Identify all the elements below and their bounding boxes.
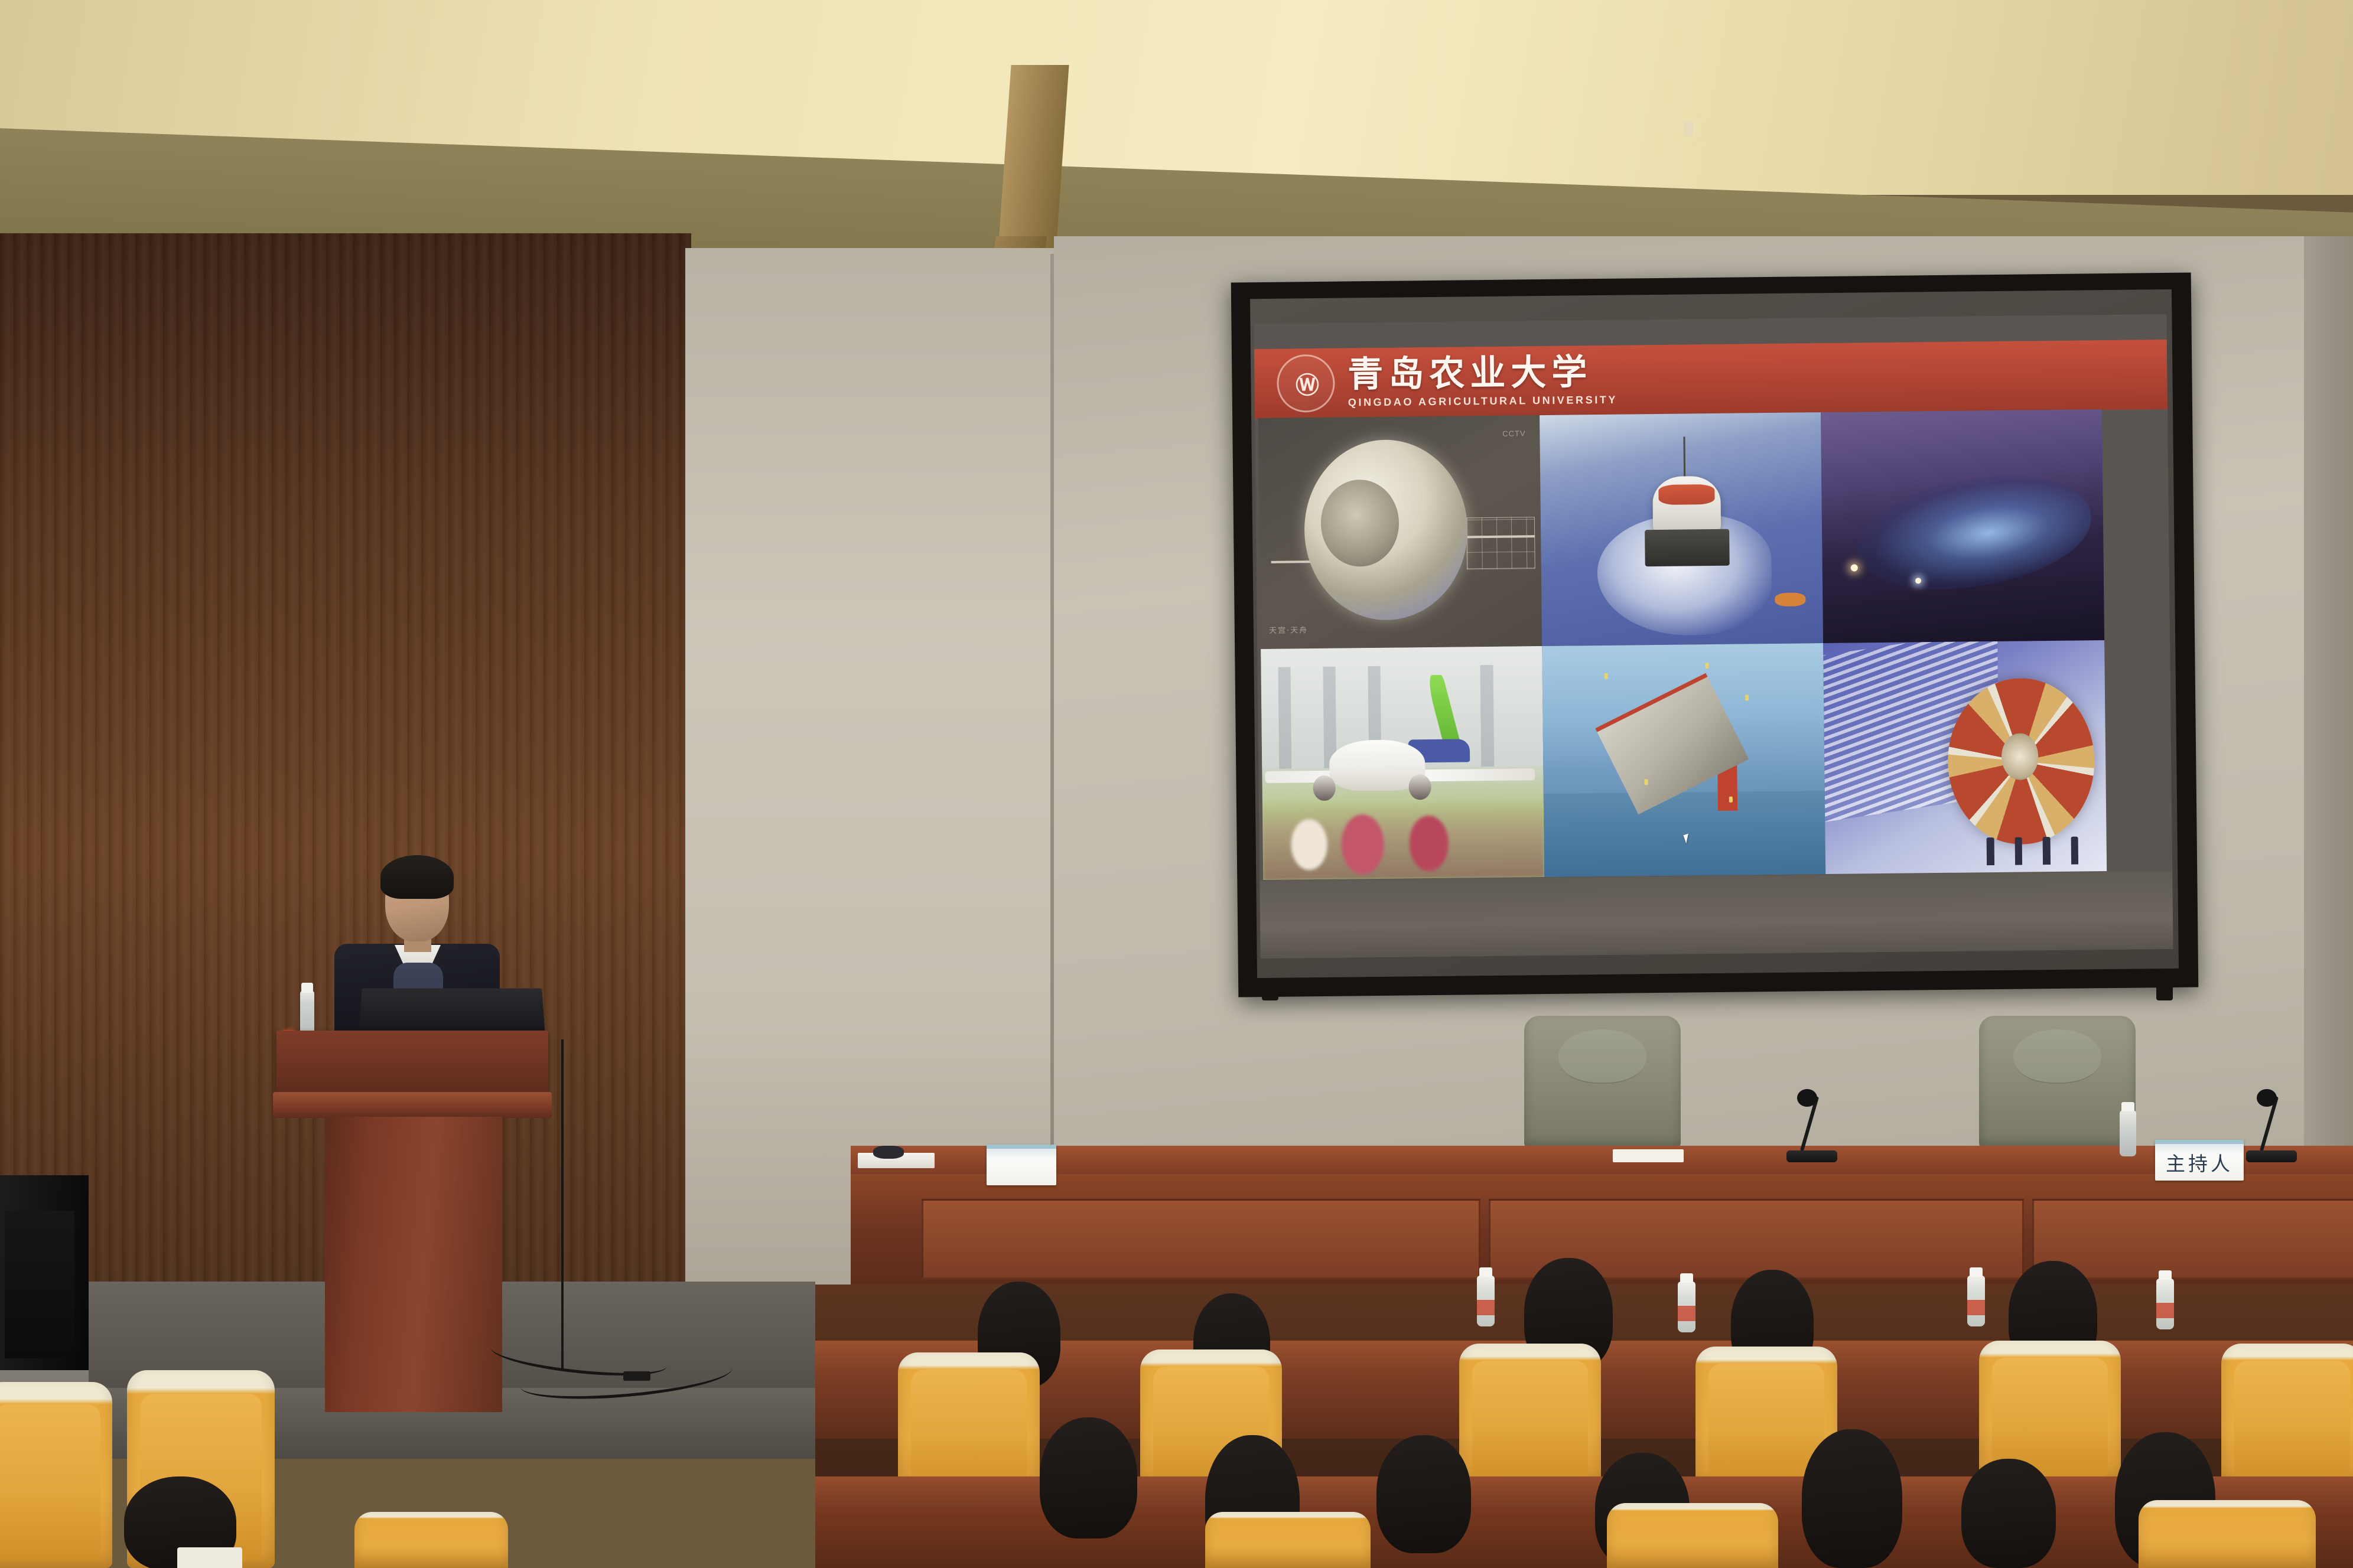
- plasma-glow-shape: [1849, 463, 2098, 604]
- audience-water-bottle: [2156, 1279, 2174, 1329]
- microphone-capsule-left: [1797, 1089, 1817, 1107]
- audience-cup: [177, 1547, 242, 1568]
- microphone-base-right[interactable]: [2246, 1150, 2297, 1162]
- cutterhead-hub-icon: [2001, 734, 2039, 780]
- light-point-b: [1915, 578, 1921, 583]
- aircraft-engine-right-icon: [1408, 774, 1431, 800]
- head-table-panel: [922, 1199, 1480, 1279]
- audience-seat[interactable]: [2221, 1344, 2353, 1485]
- audience-seat-foreground[interactable]: [0, 1382, 112, 1568]
- head-table-object: [873, 1146, 904, 1159]
- confetti: [1729, 797, 1733, 803]
- audience-head: [1802, 1429, 1902, 1568]
- audience-seat[interactable]: [1459, 1344, 1601, 1485]
- podium-top-desk: [276, 1031, 548, 1096]
- podium-cable: [561, 1039, 579, 1370]
- audience-water-bottle: [1967, 1276, 1985, 1326]
- audience-bottle-cap: [2159, 1270, 2172, 1280]
- audience-bottle-cap: [1970, 1267, 1983, 1277]
- photo-plasma-glow: [1821, 409, 2104, 643]
- microphone-capsule-right: [2257, 1089, 2277, 1107]
- microphone-base-left[interactable]: [1786, 1150, 1837, 1162]
- ceiling-light-icon: [1684, 121, 1693, 136]
- slide-header-banner: Ⓦ 青岛农业大学 QINGDAO AGRICULTURAL UNIVERSITY: [1254, 340, 2168, 419]
- audience-seat[interactable]: [898, 1352, 1040, 1494]
- seat-cushion: [2234, 1361, 2351, 1480]
- worker-silhouette: [2071, 837, 2079, 865]
- bottle-label: [1967, 1300, 1985, 1315]
- worker-silhouette: [1987, 837, 1994, 865]
- crowd-blob: [1409, 816, 1449, 872]
- audience-bottle-cap: [1680, 1273, 1693, 1283]
- photo-sea-recovery: [1540, 412, 1823, 646]
- capsule-base-icon: [1645, 529, 1729, 566]
- presenter-hair: [380, 855, 454, 899]
- seat-cushion: [911, 1370, 1027, 1489]
- seat-cushion: [0, 1404, 100, 1561]
- audience-seat-foreground[interactable]: [2139, 1500, 2316, 1568]
- worker-silhouette: [2043, 837, 2051, 865]
- name-placard-left: [987, 1145, 1056, 1185]
- slide-title-english: QINGDAO AGRICULTURAL UNIVERSITY: [1348, 394, 1618, 409]
- head-table-panel: [2032, 1199, 2353, 1279]
- loudspeaker-grille: [5, 1211, 74, 1358]
- confetti: [1604, 673, 1607, 679]
- broadcast-watermark: CCTV: [1502, 429, 1526, 438]
- podium-moulding: [273, 1092, 552, 1118]
- audience-seat-foreground[interactable]: [1607, 1503, 1778, 1568]
- hangar-column: [1480, 665, 1494, 767]
- confetti: [1745, 695, 1749, 700]
- solar-array-icon: [1466, 517, 1535, 569]
- slide-title-chinese: 青岛农业大学: [1348, 354, 1618, 393]
- crowd-blob: [1341, 814, 1384, 874]
- audience-seat-foreground[interactable]: [354, 1512, 508, 1568]
- life-raft-icon: [1775, 592, 1806, 607]
- slide-title-block: 青岛农业大学 QINGDAO AGRICULTURAL UNIVERSITY: [1348, 354, 1618, 409]
- university-seal-icon: Ⓦ: [1277, 354, 1335, 413]
- spacecraft-body-icon: [1304, 439, 1469, 621]
- water-surface: [1544, 791, 1825, 877]
- photo-tunnel-boring-machine: [1823, 640, 2107, 874]
- screen-foot-right: [2156, 985, 2173, 1000]
- photo-c919-aircraft: [1261, 646, 1544, 880]
- cable-connector: [623, 1371, 650, 1381]
- podium-bottle-cap: [301, 983, 313, 993]
- head-table-chair-left[interactable]: [1524, 1016, 1681, 1149]
- head-table-water-bottle: [2120, 1110, 2136, 1156]
- photo-caption-spacecraft: 天宫·天舟: [1269, 624, 1308, 635]
- audience-bottle-cap: [1479, 1267, 1492, 1277]
- bottle-label: [2156, 1303, 2174, 1318]
- head-table-chair-right[interactable]: [1979, 1016, 2136, 1149]
- antenna-mast-icon: [1683, 437, 1685, 478]
- bottle-label: [1678, 1306, 1695, 1321]
- head-table-paper: [1613, 1149, 1684, 1162]
- name-placard-host: 主持人: [2155, 1140, 2244, 1181]
- podium-laptop[interactable]: [359, 988, 545, 1036]
- lecture-hall-photo: Ⓦ 青岛农业大学 QINGDAO AGRICULTURAL UNIVERSITY…: [0, 0, 2353, 1568]
- confetti: [1706, 663, 1709, 669]
- audience-head: [1961, 1459, 2056, 1568]
- recovery-capsule-icon: [1653, 475, 1721, 536]
- photo-spacecraft-docking: CCTV 天宫·天舟: [1258, 415, 1542, 649]
- slide-photo-grid: CCTV 天宫·天舟: [1258, 409, 2107, 880]
- bottle-label: [1477, 1300, 1495, 1315]
- slide-footer-band: [1260, 871, 2173, 959]
- audience-seat-foreground[interactable]: [1205, 1512, 1371, 1568]
- aircraft-engine-left-icon: [1313, 775, 1336, 801]
- head-table-bottle-cap: [2121, 1102, 2134, 1111]
- confetti: [1645, 779, 1648, 785]
- audience-water-bottle: [1477, 1276, 1495, 1326]
- seat-cushion: [1472, 1361, 1589, 1480]
- audience-head: [1040, 1417, 1137, 1538]
- hangar-column: [1278, 667, 1291, 769]
- worker-silhouette: [2014, 837, 2022, 865]
- podium-column: [325, 1117, 502, 1412]
- audience-head: [1376, 1435, 1471, 1553]
- audience-water-bottle: [1678, 1282, 1695, 1332]
- podium-water-bottle: [300, 991, 314, 1034]
- presentation-slide: Ⓦ 青岛农业大学 QINGDAO AGRICULTURAL UNIVERSITY…: [1254, 314, 2173, 959]
- screen-foot-left: [1262, 985, 1278, 1000]
- light-point-a: [1850, 564, 1857, 571]
- photo-bridge-launch: [1542, 643, 1825, 877]
